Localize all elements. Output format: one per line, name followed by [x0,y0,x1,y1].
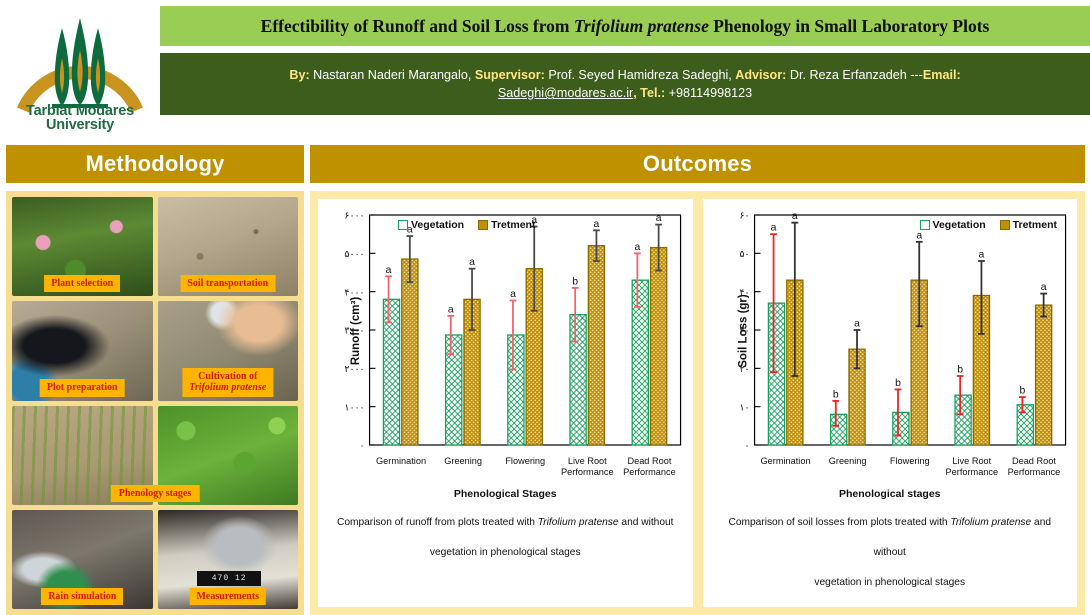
caption-line1: Cultivation of [198,371,257,382]
chart-card-soil-loss: Soil Loss (gr) ۰۱۰۲۰۳۰۴۰۵۰۶۰aababababa V… [703,199,1078,607]
logo-line2: University [5,118,155,132]
authors-line-2: Sadeghi@modares.ac.ir, Tel.: +9811499812… [498,84,752,102]
svg-text:a: a [448,304,454,315]
legend-item-vegetation: Vegetation [398,219,464,231]
photo-measurements: 470 12 Measurements [158,510,299,609]
svg-text:b: b [895,378,901,389]
caption-pre: Comparison of soil losses from plots tre… [728,517,950,528]
title-post: Phenology in Small Laboratory Plots [709,16,990,36]
x-axis-labels-soil-loss: Germination Greening Flowering Live Root… [709,456,1072,478]
runoff-bar-chart-svg: ۰۱۰۰۰۲۰۰۰۳۰۰۰۴۰۰۰۵۰۰۰۶۰۰۰aaaaaabaaa [324,207,687,455]
chart-card-runoff: Runoff (cm³) ۰۱۰۰۰۲۰۰۰۳۰۰۰۴۰۰۰۵۰۰۰۶۰۰۰aa… [318,199,693,607]
title-species: Trifolium pratense [574,16,709,36]
caption-line2: vegetation in phenological stages [430,547,581,558]
photo-rain-simulation: Rain simulation [12,510,153,609]
svg-text:b: b [1019,386,1025,397]
y-axis-title-runoff: Runoff (cm³) [350,297,362,365]
legend-soil-loss: Vegetation Tretment [920,219,1057,231]
caption-species: Trifolium pratense [538,517,619,528]
svg-text:a: a [656,213,662,224]
svg-text:a: a [386,265,392,276]
x-tick-label: Live Root Performance [556,456,618,478]
photo-plant-selection: Plant selection [12,197,153,296]
svg-text:۱۰۰۰: ۱۰۰۰ [344,402,364,413]
x-tick-label: Dead Root Performance [1003,456,1065,478]
photo-caption: Soil transportation [180,275,275,293]
authors-bar: By: Nastaran Naderi Marangalo, Superviso… [160,53,1090,115]
x-tick-label: Live Root Performance [941,456,1003,478]
svg-text:۱۰: ۱۰ [739,402,749,413]
poster-root: Tarbiat Modares University Effectibility… [0,0,1090,615]
x-tick-label: Greening [432,456,494,478]
caption-pre: Comparison of runoff from plots treated … [337,517,538,528]
legend-swatch-tretment-icon [478,220,488,230]
scale-reading: 470 12 [197,571,262,586]
title-pre: Effectibility of Runoff and Soil Loss fr… [261,16,574,36]
university-logo: Tarbiat Modares University [0,0,160,140]
x-tick-label: Germination [370,456,432,478]
methodology-photo-grid: Plant selection Soil transportation Plot… [12,197,298,609]
svg-text:۰: ۰ [360,441,365,452]
svg-text:a: a [469,257,475,268]
photo-caption-phenology-stages: Phenology stages [111,485,200,502]
x-axis-title-soil-loss: Phenological stages [709,488,1072,500]
legend-item-vegetation: Vegetation [920,219,986,231]
caption-species: Trifolium pratense [189,382,266,393]
legend-label: Vegetation [411,219,464,231]
x-tick-label: Flowering [494,456,556,478]
soil-loss-bar-chart-svg: ۰۱۰۲۰۳۰۴۰۵۰۶۰aababababa [709,207,1072,455]
section-title-methodology: Methodology [85,151,224,177]
authors-line-1: By: Nastaran Naderi Marangalo, Superviso… [289,66,960,84]
x-tick-label: Greening [817,456,879,478]
x-tick-label: Flowering [879,456,941,478]
poster-title-bar: Effectibility of Runoff and Soil Loss fr… [160,6,1090,46]
photo-soil-transportation: Soil transportation [158,197,299,296]
svg-text:a: a [510,289,516,300]
svg-text:a: a [854,318,860,329]
photo-caption: Rain simulation [41,588,123,606]
section-title-outcomes: Outcomes [643,151,752,177]
legend-runoff: Vegetation Tretment [398,219,535,231]
svg-text:a: a [634,242,640,253]
legend-label: Tretment [1013,219,1057,231]
tel-number: +98114998123 [665,86,752,100]
legend-label: Vegetation [933,219,986,231]
supervisor-name: Prof. Seyed Hamidreza Sadeghi, [545,68,735,82]
email-link[interactable]: Sadeghi@modares.ac.ir [498,86,633,100]
section-header-methodology: Methodology [6,145,304,183]
tel-label: , Tel.: [633,86,665,100]
caption-soil-loss: Comparison of soil losses from plots tre… [709,508,1072,598]
section-header-outcomes: Outcomes [310,145,1085,183]
photo-caption: Plot preparation [40,379,125,397]
photo-plot-preparation: Plot preparation [12,301,153,400]
svg-text:a: a [770,223,776,234]
email-label: Email: [923,68,961,82]
svg-text:a: a [916,230,922,241]
svg-text:a: a [1040,282,1046,293]
svg-text:۵۰۰۰: ۵۰۰۰ [344,249,364,260]
plot-soil-loss: Soil Loss (gr) ۰۱۰۲۰۳۰۴۰۵۰۶۰aababababa V… [709,207,1072,455]
page-title: Effectibility of Runoff and Soil Loss fr… [261,16,990,37]
caption-runoff: Comparison of runoff from plots treated … [324,508,687,568]
svg-text:a: a [791,211,797,222]
x-tick-label: Dead Root Performance [618,456,680,478]
y-axis-title-soil-loss: Soil Loss (gr) [737,294,749,367]
svg-text:۰: ۰ [744,441,749,452]
svg-text:b: b [832,389,838,400]
caption-post: and without [619,517,674,528]
x-axis-title-runoff: Phenological Stages [324,488,687,500]
svg-text:b: b [572,276,578,287]
legend-label: Tretment [491,219,535,231]
legend-swatch-vegetation-icon [920,220,930,230]
legend-swatch-tretment-icon [1000,220,1010,230]
legend-swatch-vegetation-icon [398,220,408,230]
x-tick-label: Germination [755,456,817,478]
photo-cultivation: Cultivation of Trifolium pratense [158,301,299,400]
legend-item-tretment: Tretment [1000,219,1057,231]
advisor-name: Dr. Reza Erfanzadeh --- [786,68,922,82]
photo-caption: Measurements [189,588,266,606]
svg-text:b: b [957,364,963,375]
caption-line2: vegetation in phenological stages [814,577,965,588]
by-label: By: [289,68,309,82]
photo-caption: Cultivation of Trifolium pratense [182,368,273,397]
caption-species: Trifolium pratense [950,517,1031,528]
author-name: Nastaran Naderi Marangalo, [310,68,475,82]
svg-text:۶۰: ۶۰ [739,211,749,222]
methodology-panel: Plant selection Soil transportation Plot… [6,191,304,615]
x-axis-labels-runoff: Germination Greening Flowering Live Root… [324,456,687,478]
advisor-label: Advisor: [735,68,786,82]
plot-runoff: Runoff (cm³) ۰۱۰۰۰۲۰۰۰۳۰۰۰۴۰۰۰۵۰۰۰۶۰۰۰aa… [324,207,687,455]
supervisor-label: Supervisor: [475,68,545,82]
svg-text:۲۰۰۰: ۲۰۰۰ [344,364,364,375]
legend-item-tretment: Tretment [478,219,535,231]
logo-text: Tarbiat Modares University [5,104,155,132]
svg-text:a: a [978,249,984,260]
svg-text:۵۰: ۵۰ [739,249,749,260]
svg-text:۶۰۰۰: ۶۰۰۰ [344,211,364,222]
outcomes-panel: Runoff (cm³) ۰۱۰۰۰۲۰۰۰۳۰۰۰۴۰۰۰۵۰۰۰۶۰۰۰aa… [310,191,1085,615]
photo-caption: Plant selection [44,275,120,293]
svg-text:a: a [594,219,600,230]
